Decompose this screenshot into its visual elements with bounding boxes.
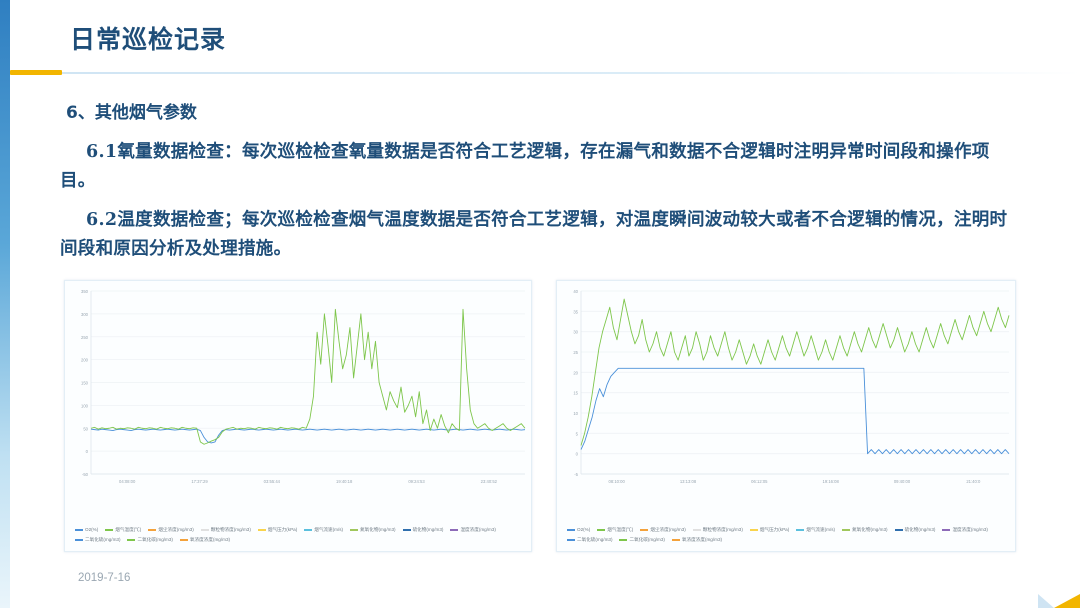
legend-swatch [450,529,458,531]
legend-swatch [942,529,950,531]
legend-item: 二氧化硫(mg/m3) [75,535,120,545]
legend-label: 颗粒物浓度(mg/m3) [703,525,743,535]
section-heading: 6、其他烟气参数 [66,98,197,123]
svg-text:21:40:0: 21:40:0 [966,479,981,484]
paragraph-oxygen-check: 6.1氧量数据检查：每次巡检检查氧量数据是否符合工艺逻辑，存在漏气和数据不合逻辑… [60,138,1020,196]
legend-swatch [180,539,188,541]
corner-accent-secondary [1038,594,1054,608]
svg-text:5: 5 [576,431,579,436]
svg-text:10: 10 [573,411,578,416]
svg-text:50: 50 [83,426,88,431]
svg-text:17:37:29: 17:37:29 [191,479,208,484]
legend-item: 氧浓度浓度(mg/m3) [672,535,722,545]
svg-text:25: 25 [573,350,578,355]
legend-swatch [75,539,83,541]
legend-label: O2(%) [85,525,98,535]
legend-swatch [567,529,575,531]
page-title: 日常巡检记录 [70,20,226,56]
legend-label: 烟气压力(kPa) [760,525,789,535]
legend-label: 二氧化碳(mg/m3) [137,535,172,545]
legend-label: 烟气流速(m/s) [314,525,343,535]
svg-text:-5: -5 [574,472,578,477]
legend-swatch [567,539,575,541]
legend-swatch [403,529,411,531]
legend-item: 二氧化碳(mg/m3) [127,535,172,545]
legend-item: 湿度浓度(mg/m3) [942,525,987,535]
legend-label: 湿度浓度(mg/m3) [952,525,987,535]
svg-text:350: 350 [81,289,89,294]
svg-text:09:40:00: 09:40:00 [894,479,911,484]
legend-item: 二氧化硫(mg/m3) [567,535,612,545]
left-legend-items: O2(%)烟气温度(℃)烟尘浓度(mg/m3)颗粒物浓度(mg/m3)烟气压力(… [75,525,525,545]
legend-item: 颗粒物浓度(mg/m3) [201,525,251,535]
legend-swatch [148,529,156,531]
svg-text:08:10:00: 08:10:00 [609,479,626,484]
legend-item: 氧浓度浓度(mg/m3) [180,535,230,545]
left-chart-legend: O2(%)烟气温度(℃)烟尘浓度(mg/m3)颗粒物浓度(mg/m3)烟气压力(… [75,525,525,545]
paragraph-temperature-check: 6.2温度数据检查；每次巡检检查烟气温度数据是否符合工艺逻辑，对温度瞬间波动较大… [60,206,1020,264]
legend-swatch [842,529,850,531]
svg-text:13:13:08: 13:13:08 [680,479,697,484]
right-legend-items: O2(%)烟气温度(℃)烟尘浓度(mg/m3)颗粒物浓度(mg/m3)烟气压力(… [567,525,1009,545]
chart-panel-right: 4035302520151050-508:10:0013:13:0806:12:… [556,280,1016,552]
right-chart-svg: 4035302520151050-508:10:0013:13:0806:12:… [557,281,1017,496]
legend-item: 烟尘浓度(mg/m3) [640,525,685,535]
legend-label: 氮氧化物(mg/m3) [852,525,887,535]
svg-text:250: 250 [81,335,89,340]
left-chart-plot: 350300250200150100500-5004:08:0017:37:29… [65,281,531,551]
legend-label: 二氧化碳(mg/m3) [629,535,664,545]
svg-text:30: 30 [573,330,578,335]
footer-date: 2019-7-16 [78,572,130,584]
title-divider [10,72,1080,74]
legend-item: O2(%) [75,525,98,535]
svg-text:-50: -50 [82,472,89,477]
legend-swatch [105,529,113,531]
svg-text:150: 150 [81,381,89,386]
legend-label: 氧浓度浓度(mg/m3) [190,535,230,545]
paragraph-oxygen-text: 6.1氧量数据检查：每次巡检检查氧量数据是否符合工艺逻辑，存在漏气和数据不合逻辑… [60,142,990,191]
legend-label: 硫化物(mg/m3) [905,525,936,535]
corner-accent-primary [1054,594,1080,608]
legend-item: 烟尘浓度(mg/m3) [148,525,193,535]
right-chart-legend: O2(%)烟气温度(℃)烟尘浓度(mg/m3)颗粒物浓度(mg/m3)烟气压力(… [567,525,1009,545]
legend-swatch [304,529,312,531]
legend-swatch [201,529,209,531]
svg-text:19:16:08: 19:16:08 [823,479,840,484]
legend-item: O2(%) [567,525,590,535]
legend-item: 硫化物(mg/m3) [895,525,936,535]
legend-item: 烟气流速(m/s) [304,525,343,535]
legend-item: 硫化物(mg/m3) [403,525,444,535]
legend-swatch [127,539,135,541]
legend-item: 烟气温度(℃) [105,525,141,535]
legend-swatch [796,529,804,531]
legend-swatch [693,529,701,531]
legend-item: 颗粒物浓度(mg/m3) [693,525,743,535]
legend-label: 烟气压力(kPa) [268,525,297,535]
svg-text:40: 40 [573,289,578,294]
legend-label: 颗粒物浓度(mg/m3) [211,525,251,535]
legend-item: 氮氧化物(mg/m3) [350,525,395,535]
legend-item: 烟气压力(kPa) [258,525,297,535]
legend-label: 烟气温度(℃) [607,525,633,535]
legend-label: 烟尘浓度(mg/m3) [158,525,193,535]
right-chart-plot: 4035302520151050-508:10:0013:13:0806:12:… [557,281,1015,551]
left-chart-svg: 350300250200150100500-5004:08:0017:37:29… [65,281,533,496]
svg-text:300: 300 [81,312,89,317]
title-accent-mark [10,70,62,75]
legend-swatch [672,539,680,541]
svg-text:20: 20 [573,370,578,375]
svg-text:15: 15 [573,391,578,396]
svg-text:35: 35 [573,309,578,314]
svg-text:23:40:52: 23:40:52 [481,479,498,484]
svg-text:0: 0 [86,449,89,454]
svg-text:200: 200 [81,358,89,363]
legend-label: O2(%) [577,525,590,535]
legend-item: 氮氧化物(mg/m3) [842,525,887,535]
svg-text:03:55:44: 03:55:44 [264,479,281,484]
legend-label: 硫化物(mg/m3) [413,525,444,535]
legend-swatch [258,529,266,531]
svg-text:09:24:53: 09:24:53 [408,479,425,484]
left-accent-bar [0,0,10,608]
svg-text:06:12:05: 06:12:05 [751,479,768,484]
legend-label: 氧浓度浓度(mg/m3) [682,535,722,545]
legend-swatch [895,529,903,531]
legend-swatch [75,529,83,531]
paragraph-temperature-text: 6.2温度数据检查；每次巡检检查烟气温度数据是否符合工艺逻辑，对温度瞬间波动较大… [60,210,1007,259]
legend-swatch [350,529,358,531]
legend-label: 烟尘浓度(mg/m3) [650,525,685,535]
svg-text:0: 0 [576,452,579,457]
legend-item: 烟气流速(m/s) [796,525,835,535]
legend-label: 烟气温度(℃) [115,525,141,535]
chart-panel-left: 350300250200150100500-5004:08:0017:37:29… [64,280,532,552]
legend-label: 烟气流速(m/s) [806,525,835,535]
svg-text:19:40:18: 19:40:18 [336,479,353,484]
svg-text:04:08:00: 04:08:00 [119,479,136,484]
legend-label: 二氧化硫(mg/m3) [577,535,612,545]
legend-item: 二氧化碳(mg/m3) [619,535,664,545]
legend-swatch [619,539,627,541]
svg-text:100: 100 [81,403,89,408]
legend-label: 湿度浓度(mg/m3) [460,525,495,535]
legend-swatch [640,529,648,531]
legend-label: 氮氧化物(mg/m3) [360,525,395,535]
legend-label: 二氧化硫(mg/m3) [85,535,120,545]
legend-swatch [597,529,605,531]
legend-item: 烟气温度(℃) [597,525,633,535]
legend-swatch [750,529,758,531]
legend-item: 湿度浓度(mg/m3) [450,525,495,535]
legend-item: 烟气压力(kPa) [750,525,789,535]
